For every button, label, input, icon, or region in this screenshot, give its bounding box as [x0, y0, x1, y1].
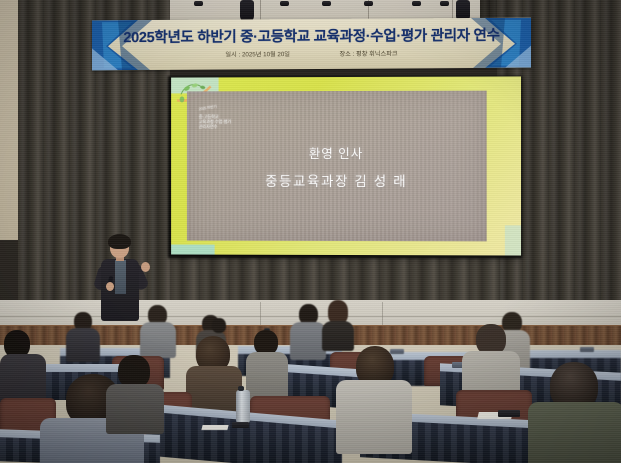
audience-member: [186, 336, 242, 416]
ceiling-light-icon: [364, 1, 373, 6]
presenter-glasses-icon: [111, 244, 128, 249]
handout-paper: [201, 425, 228, 430]
stage-floor-seam: [260, 302, 261, 326]
audience-torso: [66, 328, 100, 362]
banner-title: 2025학년도 하반기 중·고등학교 교육과정·수업·평가 관리자 연수: [92, 24, 531, 48]
audience-torso: [140, 322, 176, 358]
stage-floor-seam: [382, 302, 383, 326]
presenter-right-hand: [141, 262, 150, 272]
audience-torso: [106, 384, 164, 434]
presenter-left-hand: [106, 282, 114, 291]
slide-heading: 환영 인사: [187, 143, 487, 162]
left-wall: [0, 0, 18, 240]
audience-member: [336, 346, 412, 450]
slide-corner-line2: 교육과정·수업·평가: [199, 119, 231, 124]
audience-member: [322, 300, 354, 346]
ceiling-light-icon: [194, 1, 203, 6]
slide-subheading: 중등교육과장 김 성 래: [187, 170, 487, 190]
audience-head: [212, 318, 226, 333]
audience-member: [290, 304, 326, 356]
audience-member: [140, 305, 176, 353]
audience-member: [528, 362, 621, 463]
slide-corner-accent: [505, 225, 521, 255]
nameplate: [580, 347, 594, 352]
audience-torso: [336, 380, 412, 454]
audience-member: [106, 355, 164, 427]
audience-member: [246, 330, 288, 398]
slide-corner-line3: 관리자연수: [199, 125, 218, 130]
ceiling-light-icon: [322, 1, 331, 6]
smartphone: [498, 410, 520, 417]
ceiling-light-icon: [280, 1, 289, 6]
slide-corner-year: 2025 하반기: [198, 97, 267, 112]
projection-screen: 2025 하반기 중·고등학교 교육과정·수업·평가 관리자연수 환영 인사 중…: [171, 76, 521, 255]
banner-place: 장소 : 평창 휘닉스파크: [339, 48, 397, 57]
banner-date: 일시 : 2025년 10월 20일: [225, 49, 290, 58]
slide-content-area: 2025 하반기 중·고등학교 교육과정·수업·평가 관리자연수 환영 인사 중…: [187, 91, 487, 242]
slide-corner-line1: 중·고등학교: [199, 114, 219, 119]
event-banner: 2025학년도 하반기 중·고등학교 교육과정·수업·평가 관리자 연수 일시 …: [92, 18, 531, 71]
ceiling-light-icon: [440, 1, 449, 6]
thermos-bottle: [236, 390, 250, 424]
audience-torso: [528, 402, 621, 463]
audience-member: [66, 312, 100, 358]
smartphone: [232, 422, 249, 428]
audience-torso: [246, 352, 288, 402]
ceiling-light-icon: [412, 1, 421, 6]
conference-hall-photo: 2025학년도 하반기 중·고등학교 교육과정·수업·평가 관리자 연수 일시 …: [0, 0, 621, 463]
slide-main-text: 환영 인사 중등교육과장 김 성 래: [187, 143, 487, 190]
slide-corner-title: 2025 하반기 중·고등학교 교육과정·수업·평가 관리자연수: [199, 107, 268, 130]
slide-corner-accent: [171, 245, 215, 255]
presenter-shirt: [115, 260, 126, 294]
audience-torso: [290, 322, 326, 360]
